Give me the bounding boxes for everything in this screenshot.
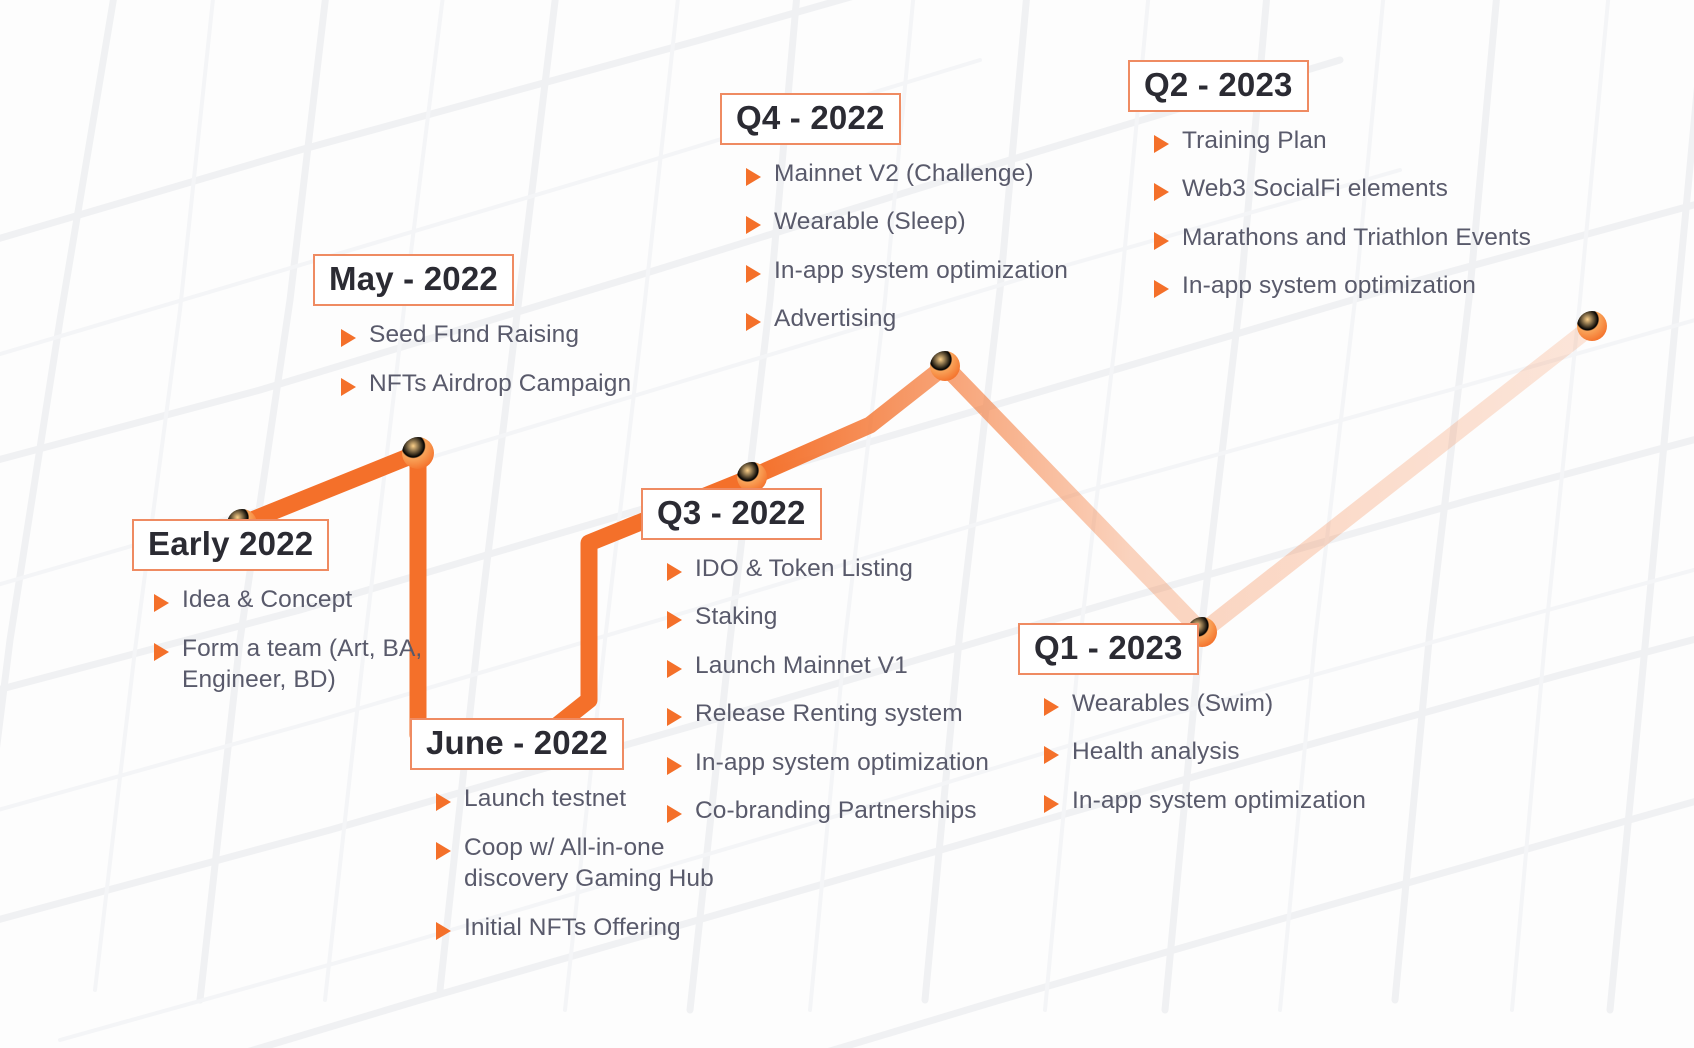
- list-item: In-app system optimization: [746, 256, 1068, 286]
- list-item: Training Plan: [1154, 126, 1531, 156]
- arrow-right-icon: [667, 757, 682, 775]
- list-item: Form a team (Art, BA, Engineer, BD): [154, 634, 432, 695]
- route-node-may-2022[interactable]: [402, 437, 434, 469]
- milestone-q4-2022: Q4 - 2022 Mainnet V2 (Challenge) Wearabl…: [720, 93, 1068, 353]
- list-item-label: Seed Fund Raising: [369, 320, 579, 350]
- arrow-right-icon: [1044, 746, 1059, 764]
- arrow-right-icon: [1154, 232, 1169, 250]
- arrow-right-icon: [154, 643, 169, 661]
- list-item: NFTs Airdrop Campaign: [341, 369, 631, 399]
- arrow-right-icon: [746, 168, 761, 186]
- milestone-q2-2023: Q2 - 2023 Training Plan Web3 SocialFi el…: [1128, 60, 1531, 320]
- list-item-label: Training Plan: [1182, 126, 1327, 156]
- milestone-q1-2023: Q1 - 2023 Wearables (Swim) Health analys…: [1018, 623, 1366, 834]
- arrow-right-icon: [746, 313, 761, 331]
- milestone-title-early-2022: Early 2022: [132, 519, 329, 571]
- list-item-label: Health analysis: [1072, 737, 1240, 767]
- arrow-right-icon: [746, 216, 761, 234]
- list-item-label: In-app system optimization: [1072, 786, 1366, 816]
- milestone-items-may-2022: Seed Fund Raising NFTs Airdrop Campaign: [341, 320, 631, 400]
- list-item: Web3 SocialFi elements: [1154, 174, 1531, 204]
- list-item: Mainnet V2 (Challenge): [746, 159, 1068, 189]
- list-item-label: Launch testnet: [464, 784, 626, 814]
- list-item-label: Marathons and Triathlon Events: [1182, 223, 1531, 253]
- list-item-label: NFTs Airdrop Campaign: [369, 369, 631, 399]
- arrow-right-icon: [1154, 183, 1169, 201]
- milestone-items-q4-2022: Mainnet V2 (Challenge) Wearable (Sleep) …: [746, 159, 1068, 335]
- arrow-right-icon: [667, 563, 682, 581]
- milestone-title-q2-2023: Q2 - 2023: [1128, 60, 1309, 112]
- arrow-right-icon: [667, 611, 682, 629]
- list-item: Wearable (Sleep): [746, 207, 1068, 237]
- milestone-items-q2-2023: Training Plan Web3 SocialFi elements Mar…: [1154, 126, 1531, 302]
- list-item-label: Idea & Concept: [182, 585, 352, 615]
- milestone-items-q1-2023: Wearables (Swim) Health analysis In-app …: [1044, 689, 1366, 816]
- route-node-q4-2022[interactable]: [930, 351, 960, 381]
- list-item-label: In-app system optimization: [1182, 271, 1476, 301]
- arrow-right-icon: [341, 378, 356, 396]
- arrow-right-icon: [154, 594, 169, 612]
- arrow-right-icon: [436, 842, 451, 860]
- list-item-label: Wearable (Sleep): [774, 207, 966, 237]
- list-item-label: Initial NFTs Offering: [464, 913, 681, 943]
- arrow-right-icon: [667, 660, 682, 678]
- arrow-right-icon: [746, 265, 761, 283]
- milestone-items-early-2022: Idea & Concept Form a team (Art, BA, Eng…: [154, 585, 432, 695]
- list-item-label: Form a team (Art, BA, Engineer, BD): [182, 634, 432, 695]
- milestone-may-2022: May - 2022 Seed Fund Raising NFTs Airdro…: [313, 254, 631, 400]
- list-item-label: Wearables (Swim): [1072, 689, 1273, 719]
- milestone-items-q3-2022: IDO & Token Listing Staking Launch Mainn…: [667, 554, 989, 826]
- list-item-label: IDO & Token Listing: [695, 554, 913, 584]
- list-item: Initial NFTs Offering: [436, 913, 714, 943]
- arrow-right-icon: [1154, 135, 1169, 153]
- list-item-label: Release Renting system: [695, 699, 963, 729]
- milestone-title-june-2022: June - 2022: [410, 718, 624, 770]
- arrow-right-icon: [667, 805, 682, 823]
- list-item-label: In-app system optimization: [695, 748, 989, 778]
- list-item-label: In-app system optimization: [774, 256, 1068, 286]
- list-item-label: Advertising: [774, 304, 896, 334]
- list-item: Co-branding Partnerships: [667, 796, 989, 826]
- list-item: IDO & Token Listing: [667, 554, 989, 584]
- arrow-right-icon: [1154, 280, 1169, 298]
- arrow-right-icon: [1044, 698, 1059, 716]
- arrow-right-icon: [667, 708, 682, 726]
- milestone-title-q4-2022: Q4 - 2022: [720, 93, 901, 145]
- arrow-right-icon: [436, 922, 451, 940]
- list-item: In-app system optimization: [667, 748, 989, 778]
- list-item: Advertising: [746, 304, 1068, 334]
- list-item-label: Web3 SocialFi elements: [1182, 174, 1448, 204]
- milestone-title-q1-2023: Q1 - 2023: [1018, 623, 1199, 675]
- milestone-q3-2022: Q3 - 2022 IDO & Token Listing Staking La…: [641, 488, 989, 844]
- arrow-right-icon: [341, 329, 356, 347]
- milestone-title-q3-2022: Q3 - 2022: [641, 488, 822, 540]
- list-item: Release Renting system: [667, 699, 989, 729]
- list-item: Seed Fund Raising: [341, 320, 631, 350]
- list-item: In-app system optimization: [1044, 786, 1366, 816]
- list-item-label: Co-branding Partnerships: [695, 796, 977, 826]
- list-item: Idea & Concept: [154, 585, 432, 615]
- list-item-label: Staking: [695, 602, 777, 632]
- list-item-label: Launch Mainnet V1: [695, 651, 908, 681]
- list-item: Wearables (Swim): [1044, 689, 1366, 719]
- list-item: Launch Mainnet V1: [667, 651, 989, 681]
- roadmap-canvas: Early 2022 Idea & Concept Form a team (A…: [0, 0, 1694, 1048]
- milestone-title-may-2022: May - 2022: [313, 254, 514, 306]
- list-item: Staking: [667, 602, 989, 632]
- arrow-right-icon: [436, 793, 451, 811]
- list-item: In-app system optimization: [1154, 271, 1531, 301]
- list-item-label: Mainnet V2 (Challenge): [774, 159, 1034, 189]
- milestone-early-2022: Early 2022 Idea & Concept Form a team (A…: [132, 519, 432, 695]
- list-item: Marathons and Triathlon Events: [1154, 223, 1531, 253]
- route-node-q2-2023[interactable]: [1577, 311, 1607, 341]
- list-item: Health analysis: [1044, 737, 1366, 767]
- arrow-right-icon: [1044, 795, 1059, 813]
